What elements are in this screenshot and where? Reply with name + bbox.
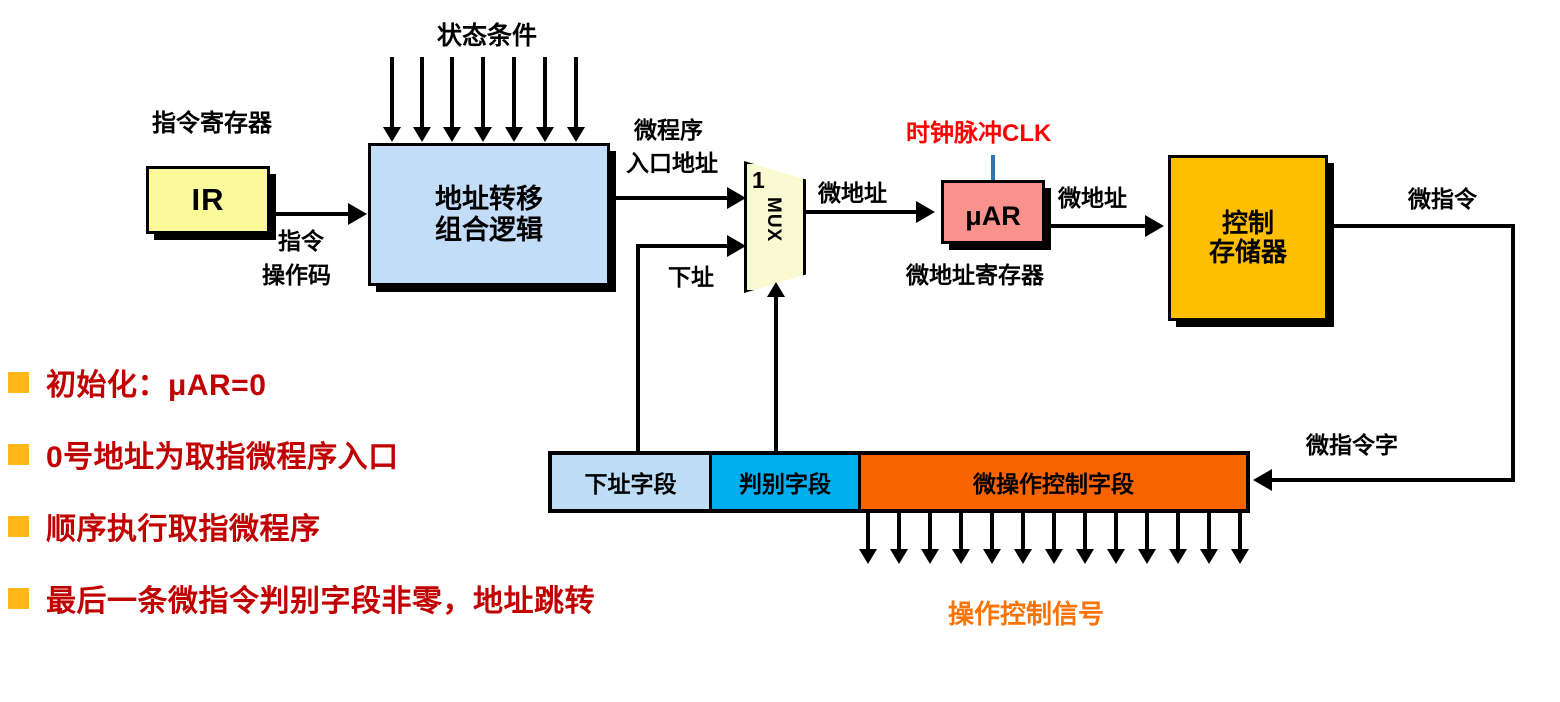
ir-to-logic-line: [272, 212, 350, 216]
microinstruction-word-hline: [1272, 478, 1515, 482]
micro-address-register-caption: 微地址寄存器: [906, 262, 1044, 288]
ir-to-logic-arrowhead: [348, 203, 367, 225]
bullet-list: 初始化：μAR=0 0号地址为取指微程序入口 顺序执行取指微程序 最后一条微指令…: [8, 346, 808, 634]
micro-address-label-2: 微地址: [1058, 185, 1127, 211]
control-signal-head-4: [952, 549, 970, 564]
control-signal-line-10: [1145, 513, 1149, 551]
control-signal-head-9: [1107, 549, 1125, 564]
control-signal-line-9: [1114, 513, 1118, 551]
bullet-item-3: 顺序执行取指微程序: [8, 490, 808, 562]
uar-to-cs-arrowhead: [1145, 215, 1164, 237]
control-signal-line-12: [1207, 513, 1211, 551]
entry-address-line: [612, 196, 730, 200]
bullet-text-2: 0号地址为取指微程序入口: [46, 432, 399, 476]
status-arrow-head-7: [567, 127, 585, 142]
control-signal-head-7: [1045, 549, 1063, 564]
mux-input-index: 1: [752, 167, 765, 194]
status-arrow-head-2: [413, 127, 431, 142]
control-signal-line-7: [1052, 513, 1056, 551]
microinstruction-label: 微指令: [1408, 186, 1477, 212]
control-store-box: 控制 存储器: [1168, 155, 1328, 321]
clock-pulse-line: [991, 155, 995, 183]
micro-entry-label-line2: 入口地址: [626, 150, 718, 176]
mux-block: 1 MUX: [744, 161, 806, 293]
micro-entry-label-line1: 微程序: [634, 117, 703, 143]
control-signal-line-6: [1021, 513, 1025, 551]
microinstruction-word-label: 微指令字: [1306, 432, 1398, 458]
bullet-text-3: 顺序执行取指微程序: [46, 504, 321, 548]
uar-label: μAR: [965, 201, 1021, 231]
control-store-line1: 控制: [1209, 209, 1287, 238]
bullet-item-1: 初始化：μAR=0: [8, 346, 808, 418]
control-signal-line-8: [1083, 513, 1087, 551]
status-arrow-line-6: [543, 57, 547, 129]
control-signal-head-13: [1231, 549, 1249, 564]
control-signal-line-2: [897, 513, 901, 551]
control-signal-line-11: [1176, 513, 1180, 551]
control-signal-line-1: [866, 513, 870, 551]
control-signal-head-8: [1076, 549, 1094, 564]
status-arrow-head-5: [505, 127, 523, 142]
control-signal-head-6: [1014, 549, 1032, 564]
microinstruction-out-vline: [1511, 224, 1515, 482]
control-signal-line-3: [928, 513, 932, 551]
status-arrow-line-7: [574, 57, 578, 129]
operation-control-signals-label: 操作控制信号: [948, 600, 1104, 630]
status-condition-label: 状态条件: [437, 22, 537, 51]
instruction-register-box: IR: [146, 166, 270, 234]
mux-label: MUX: [762, 197, 784, 242]
control-signal-line-4: [959, 513, 963, 551]
microinstruction-word-arrowhead: [1253, 469, 1272, 491]
bullet-item-2: 0号地址为取指微程序入口: [8, 418, 808, 490]
control-signal-head-1: [859, 549, 877, 564]
next-address-label: 下址: [668, 264, 714, 290]
instruction-opcode-label-line1: 指令: [278, 228, 324, 254]
status-arrow-head-1: [383, 127, 401, 142]
bullet-square-icon: [8, 516, 29, 537]
status-arrow-line-4: [481, 57, 485, 129]
status-arrow-line-3: [450, 57, 454, 129]
ir-label: IR: [192, 183, 225, 218]
judge-field-select-arrowhead: [767, 282, 785, 297]
status-arrow-line-2: [420, 57, 424, 129]
control-signal-head-10: [1138, 549, 1156, 564]
bullet-item-4: 最后一条微指令判别字段非零，地址跳转: [8, 562, 808, 634]
bullet-text-1: 初始化：μAR=0: [46, 360, 266, 404]
status-arrow-head-3: [443, 127, 461, 142]
microinstruction-out-hline: [1330, 224, 1515, 228]
address-logic-line1: 地址转移: [435, 184, 543, 214]
bullet-text-4: 最后一条微指令判别字段非零，地址跳转: [46, 576, 595, 620]
bullet-square-icon: [8, 588, 29, 609]
field-micro-operation-control: 微操作控制字段: [861, 455, 1246, 509]
bullet-square-icon: [8, 372, 29, 393]
instruction-opcode-label-line2: 操作码: [262, 262, 331, 288]
mux-to-uar-line: [806, 210, 918, 214]
micro-address-label-1: 微地址: [818, 180, 887, 206]
status-arrow-head-6: [536, 127, 554, 142]
control-signal-head-5: [983, 549, 1001, 564]
control-signal-head-11: [1169, 549, 1187, 564]
bullet-square-icon: [8, 444, 29, 465]
control-signal-head-3: [921, 549, 939, 564]
uar-to-cs-line: [1047, 224, 1147, 228]
control-store-line2: 存储器: [1209, 238, 1287, 267]
diagram-canvas: 状态条件 指令寄存器 IR 指令 操作码 地址转移 组合逻辑 微程序 入口地址 …: [0, 0, 1560, 702]
next-address-feedback-hline: [636, 244, 731, 248]
address-logic-line2: 组合逻辑: [435, 215, 543, 245]
control-signal-line-13: [1238, 513, 1242, 551]
control-signal-head-2: [890, 549, 908, 564]
mux-to-uar-arrowhead: [916, 201, 935, 223]
address-transfer-logic-box: 地址转移 组合逻辑: [368, 143, 610, 286]
clock-pulse-label: 时钟脉冲CLK: [906, 120, 1051, 148]
micro-address-register-box: μAR: [941, 180, 1045, 244]
status-arrow-line-5: [512, 57, 516, 129]
instruction-register-caption: 指令寄存器: [152, 110, 272, 138]
next-address-arrowhead: [727, 235, 746, 257]
control-signal-line-5: [990, 513, 994, 551]
status-arrow-line-1: [390, 57, 394, 129]
control-signal-head-12: [1200, 549, 1218, 564]
status-arrow-head-4: [474, 127, 492, 142]
